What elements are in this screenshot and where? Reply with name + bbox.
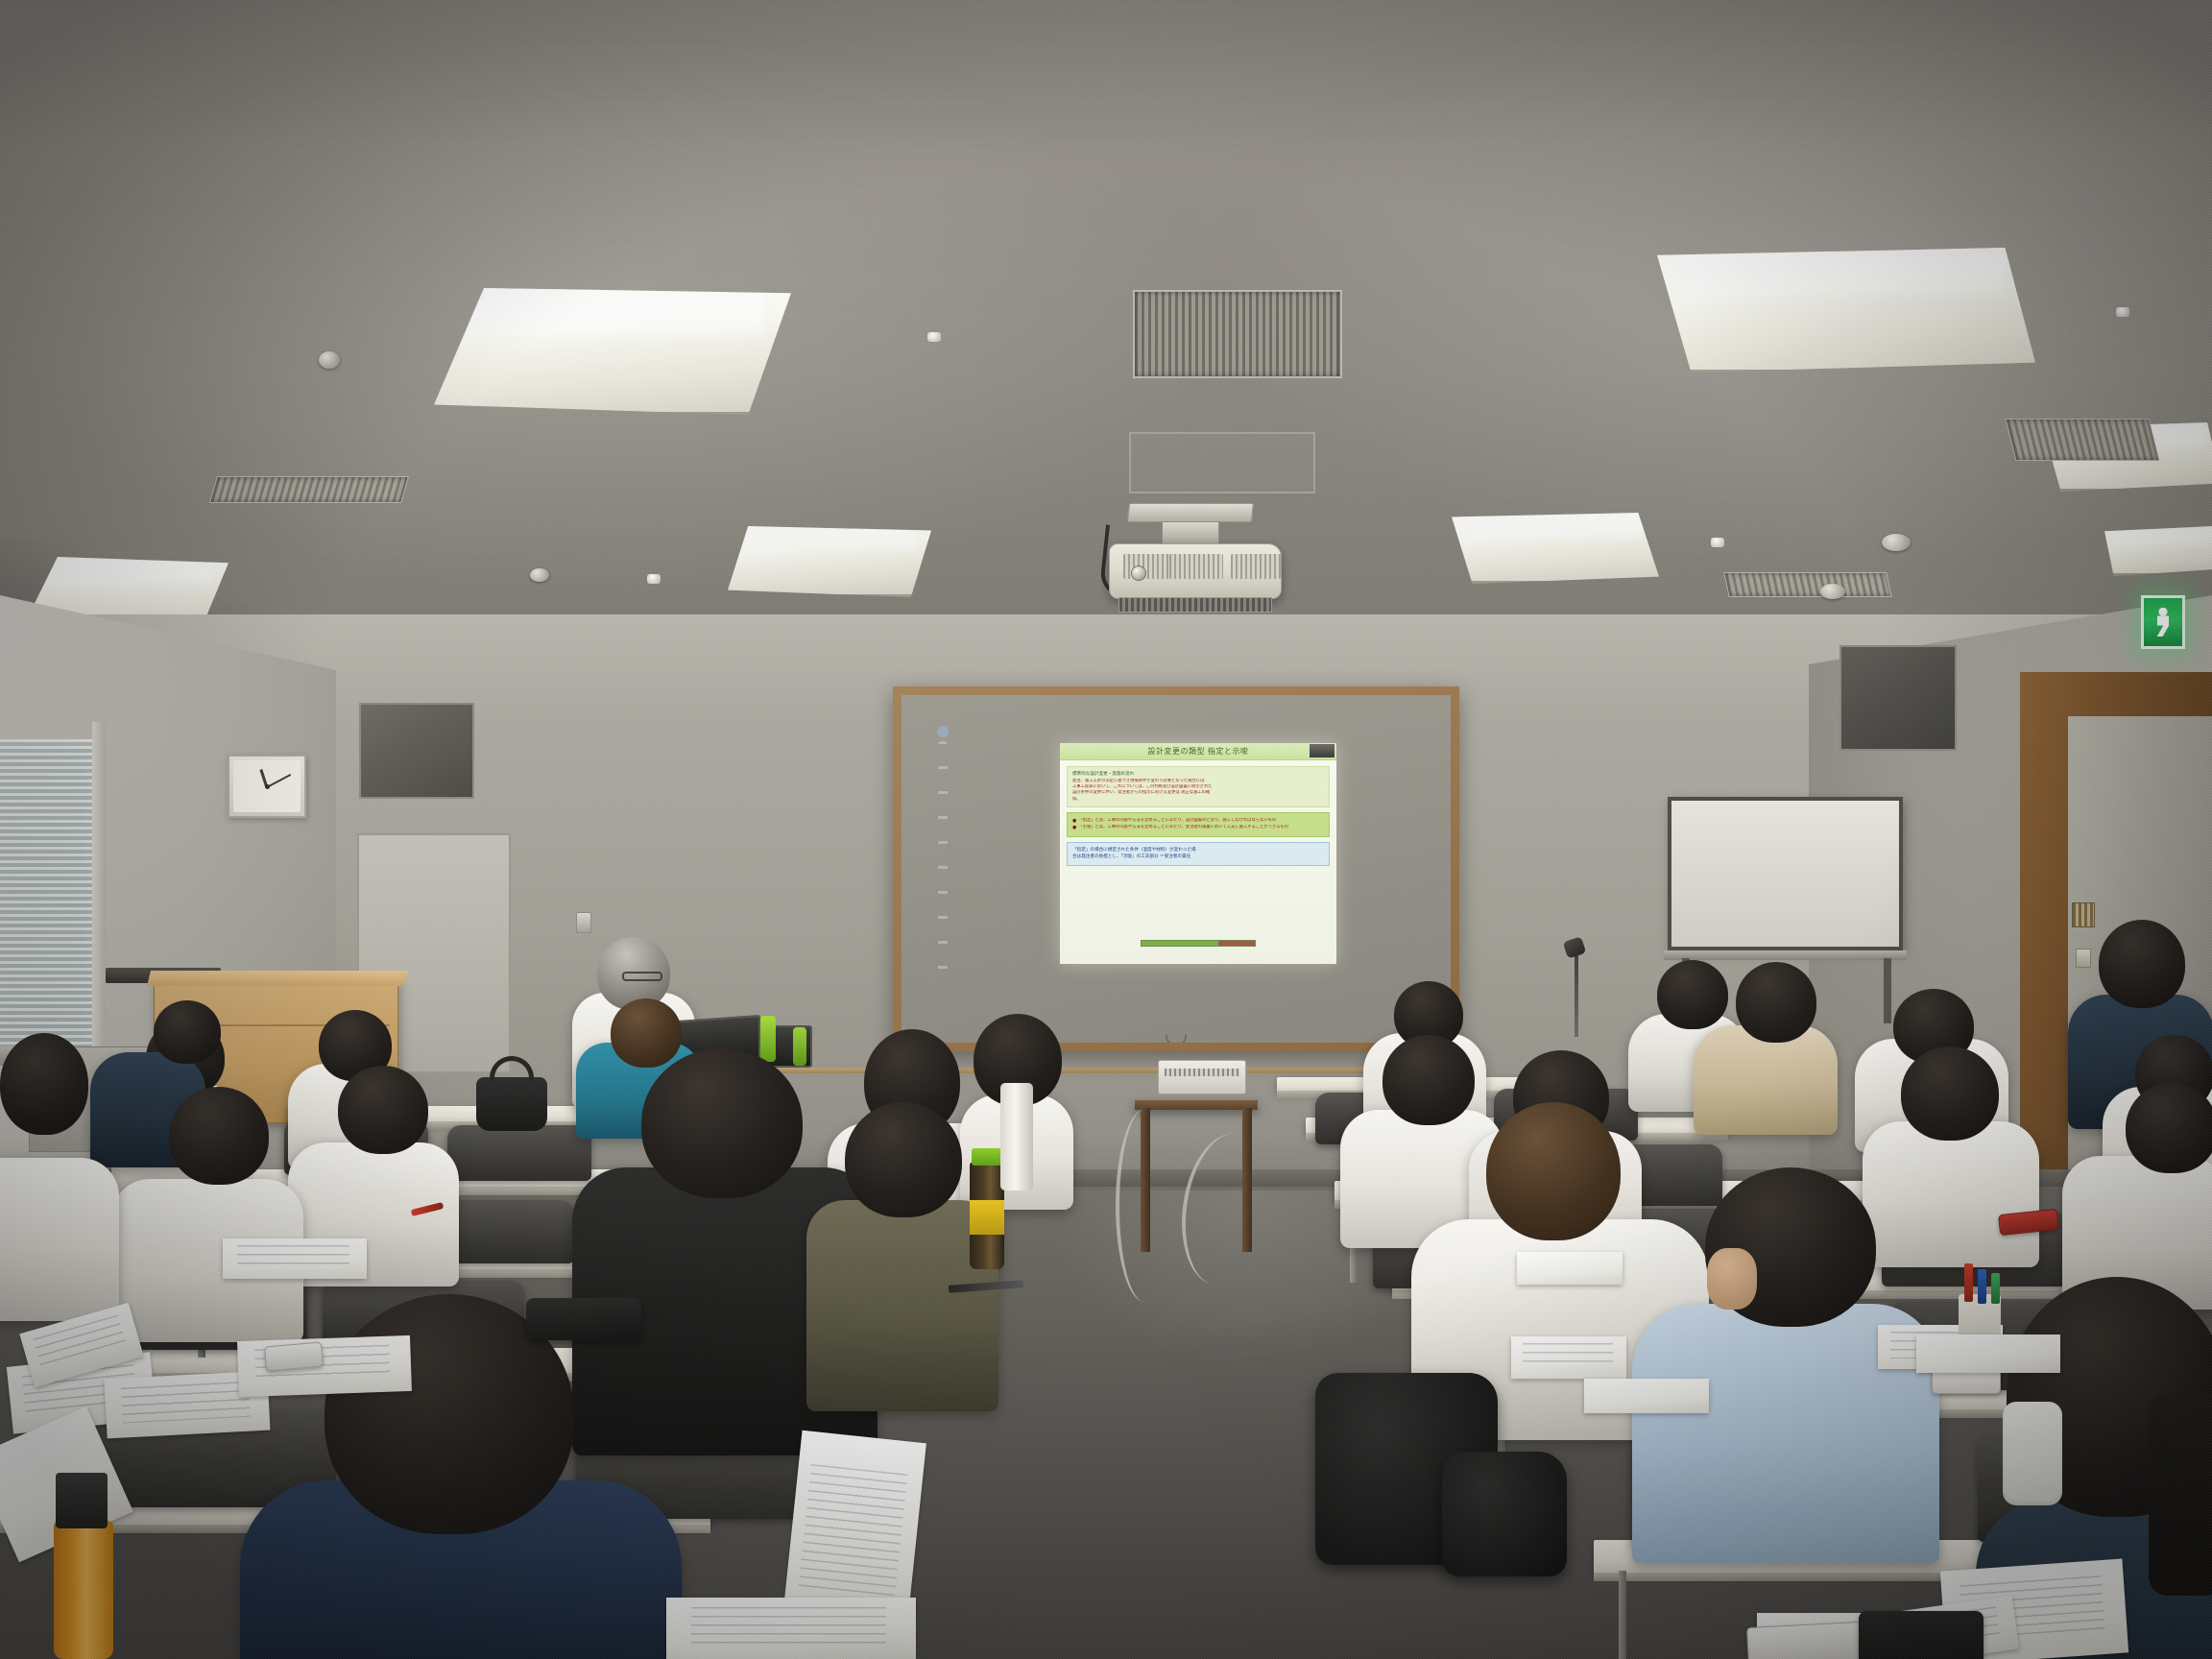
handout-paper [666, 1598, 916, 1659]
sprinkler-head-icon [647, 574, 661, 584]
lecture-room-photo: 設計変更の類型 指定と示唆 標準的な設計変更・実施の流れ 発注、施工方針の決定に… [0, 0, 2212, 1659]
green-bottle [793, 1027, 806, 1066]
whiteboard [1668, 797, 1903, 950]
ceiling-air-vent [1723, 572, 1892, 597]
slide-bullet-text: 「示唆」とは、工事の内容や方法を定めることにあたり、受注者の裁量において工夫し施… [1078, 825, 1288, 830]
smoke-detector-icon [1820, 584, 1845, 599]
sprinkler-head-icon [927, 332, 941, 342]
person-head [169, 1087, 269, 1185]
person-head [1657, 960, 1728, 1029]
handout-paper [1916, 1334, 2060, 1373]
chair [447, 1125, 591, 1181]
ceiling-light-panel [2104, 526, 2212, 576]
person-head [611, 998, 682, 1068]
glasses-icon [622, 972, 662, 981]
desk-leg [1619, 1571, 1626, 1659]
white-water-bottle [1000, 1083, 1033, 1190]
person-head [1901, 1046, 1999, 1141]
window [0, 739, 104, 1056]
black-backpack [1442, 1452, 1567, 1576]
green-bottle [760, 1016, 776, 1062]
door-knob-icon[interactable] [576, 912, 591, 933]
podium-top [147, 971, 408, 986]
slide-progress-bar [1141, 940, 1256, 947]
floor-cable [1116, 1110, 1173, 1302]
wall-clock [228, 755, 306, 818]
clock-face [233, 760, 301, 812]
slide-bullet-text: 「指定」とは、工事の内容や方法を定めることにあたり、設計図書のとおり、施工しなけ… [1078, 818, 1276, 824]
slide-paragraph-line: 保。 [1072, 797, 1324, 803]
projector-lens-icon [1131, 565, 1146, 581]
bullet-dot-icon: ● [1072, 825, 1076, 831]
slide-note-line: 「指定」の場合に規定された条件（温度や材料）が変わった場 [1072, 847, 1324, 854]
slide-title: 設計変更の類型 指定と示唆 [1060, 743, 1336, 760]
slide-body: 標準的な設計変更・実施の流れ 発注、施工方針の決定に基づき現場条件が変わり必要と… [1060, 760, 1336, 866]
slide-bullet-box: ● 「指定」とは、工事の内容や方法を定めることにあたり、設計図書のとおり、施工し… [1067, 812, 1330, 837]
av-unit-face [1165, 1069, 1239, 1076]
pen [1991, 1273, 2000, 1304]
bottle-label [970, 1200, 1004, 1235]
wall-speaker [1839, 645, 1957, 751]
person-head [2099, 920, 2185, 1008]
av-side-table [1135, 1100, 1258, 1110]
hand-icon [1707, 1248, 1757, 1310]
screen-pull-handle[interactable] [1166, 1035, 1187, 1043]
bottle-cap-icon [972, 1148, 1002, 1166]
slide-paragraph-box: 標準的な設計変更・実施の流れ 発注、施工方針の決定に基づき現場条件が変わり必要と… [1067, 766, 1330, 807]
window-frame [92, 722, 106, 1068]
ceiling-projector [1109, 543, 1282, 599]
ceiling-light-panel [434, 288, 791, 415]
ceiling-air-vent [209, 476, 409, 503]
sprinkler-head-icon [1711, 538, 1724, 547]
projector-vent [1118, 597, 1272, 613]
pen [1964, 1263, 1973, 1302]
pencil-case [1859, 1611, 1984, 1659]
door-plate-icon [2072, 902, 2095, 927]
clock-minute-hand [267, 774, 292, 788]
person-head [338, 1066, 428, 1154]
ceiling-air-vent [2006, 419, 2160, 461]
black-handbag [476, 1077, 547, 1131]
light-switch-icon[interactable] [2076, 949, 2091, 968]
projected-slide: 設計変更の類型 指定と示唆 標準的な設計変更・実施の流れ 発注、施工方針の決定に… [1060, 743, 1336, 964]
projection-screen: 設計変更の類型 指定と示唆 標準的な設計変更・実施の流れ 発注、施工方針の決定に… [902, 695, 1451, 1043]
clock-center-pin [265, 784, 270, 789]
screen-control-dots [938, 741, 948, 981]
smoke-detector-icon [319, 351, 340, 369]
handout-paper [1517, 1252, 1623, 1285]
emergency-exit-sign [2141, 595, 2185, 649]
ceiling-access-hatch [1129, 432, 1315, 493]
ceiling-light-panel [1657, 248, 2035, 373]
ceiling-air-vent [1133, 290, 1342, 378]
av-amplifier-unit [1158, 1060, 1246, 1094]
window-blinds [0, 739, 98, 1056]
wall-speaker [359, 703, 474, 799]
pencil-case [526, 1298, 641, 1340]
person-head [154, 1000, 221, 1064]
slide-bullet: ● 「示唆」とは、工事の内容や方法を定めることにあたり、受注者の裁量において工夫… [1072, 825, 1324, 831]
ceiling-light-panel [728, 526, 931, 597]
running-person-icon [2157, 608, 2169, 637]
person-head [1486, 1102, 1621, 1240]
slide-note-box: 「指定」の場合に規定された条件（温度や材料）が変わった場 合は発注者の負担とし、… [1067, 842, 1330, 866]
face-mask [2003, 1402, 2062, 1505]
whiteboard-stand [1884, 958, 1891, 1023]
person-head [845, 1102, 962, 1217]
whiteboard-tray [1664, 950, 1907, 960]
slide-paragraph-heading: 標準的な設計変更・実施の流れ [1072, 771, 1324, 778]
person-head [1382, 1035, 1475, 1125]
handout-paper [1584, 1379, 1709, 1413]
tea-bottle [970, 1162, 1004, 1269]
orange-water-bottle [54, 1521, 113, 1659]
person-head [0, 1033, 88, 1135]
projection-screen-frame: 設計変更の類型 指定と示唆 標準的な設計変更・実施の流れ 発注、施工方針の決定に… [893, 686, 1459, 1051]
handout-paper [237, 1335, 412, 1397]
ceiling-light-panel [1452, 513, 1659, 584]
projector-mount [1127, 503, 1254, 522]
ponytail [2149, 1394, 2212, 1596]
smoke-detector-icon [1882, 534, 1911, 551]
slide-note-line: 合は発注者の負担とし、「示唆」の工夫部分 ＝受注者の責任 [1072, 854, 1324, 860]
smartphone [264, 1341, 324, 1371]
person-torso [1863, 1121, 2039, 1267]
handout-paper [1511, 1336, 1626, 1379]
microphone-stand [1575, 949, 1578, 1037]
sprinkler-head-icon [2116, 307, 2129, 317]
wall-rail [730, 1068, 1459, 1073]
slide-page-badge [1310, 744, 1334, 757]
smartphone [1746, 1622, 1863, 1659]
person-head [641, 1048, 803, 1198]
person-torso [0, 1158, 119, 1321]
person-head [2126, 1083, 2212, 1173]
smoke-detector-icon [530, 568, 549, 582]
person-head [1736, 962, 1816, 1043]
bullet-dot-icon: ● [1072, 818, 1076, 825]
handout-paper [223, 1238, 367, 1279]
bottle-cap-icon [56, 1473, 108, 1528]
pen [1978, 1269, 1986, 1304]
slide-bullet: ● 「指定」とは、工事の内容や方法を定めることにあたり、設計図書のとおり、施工し… [1072, 818, 1324, 825]
